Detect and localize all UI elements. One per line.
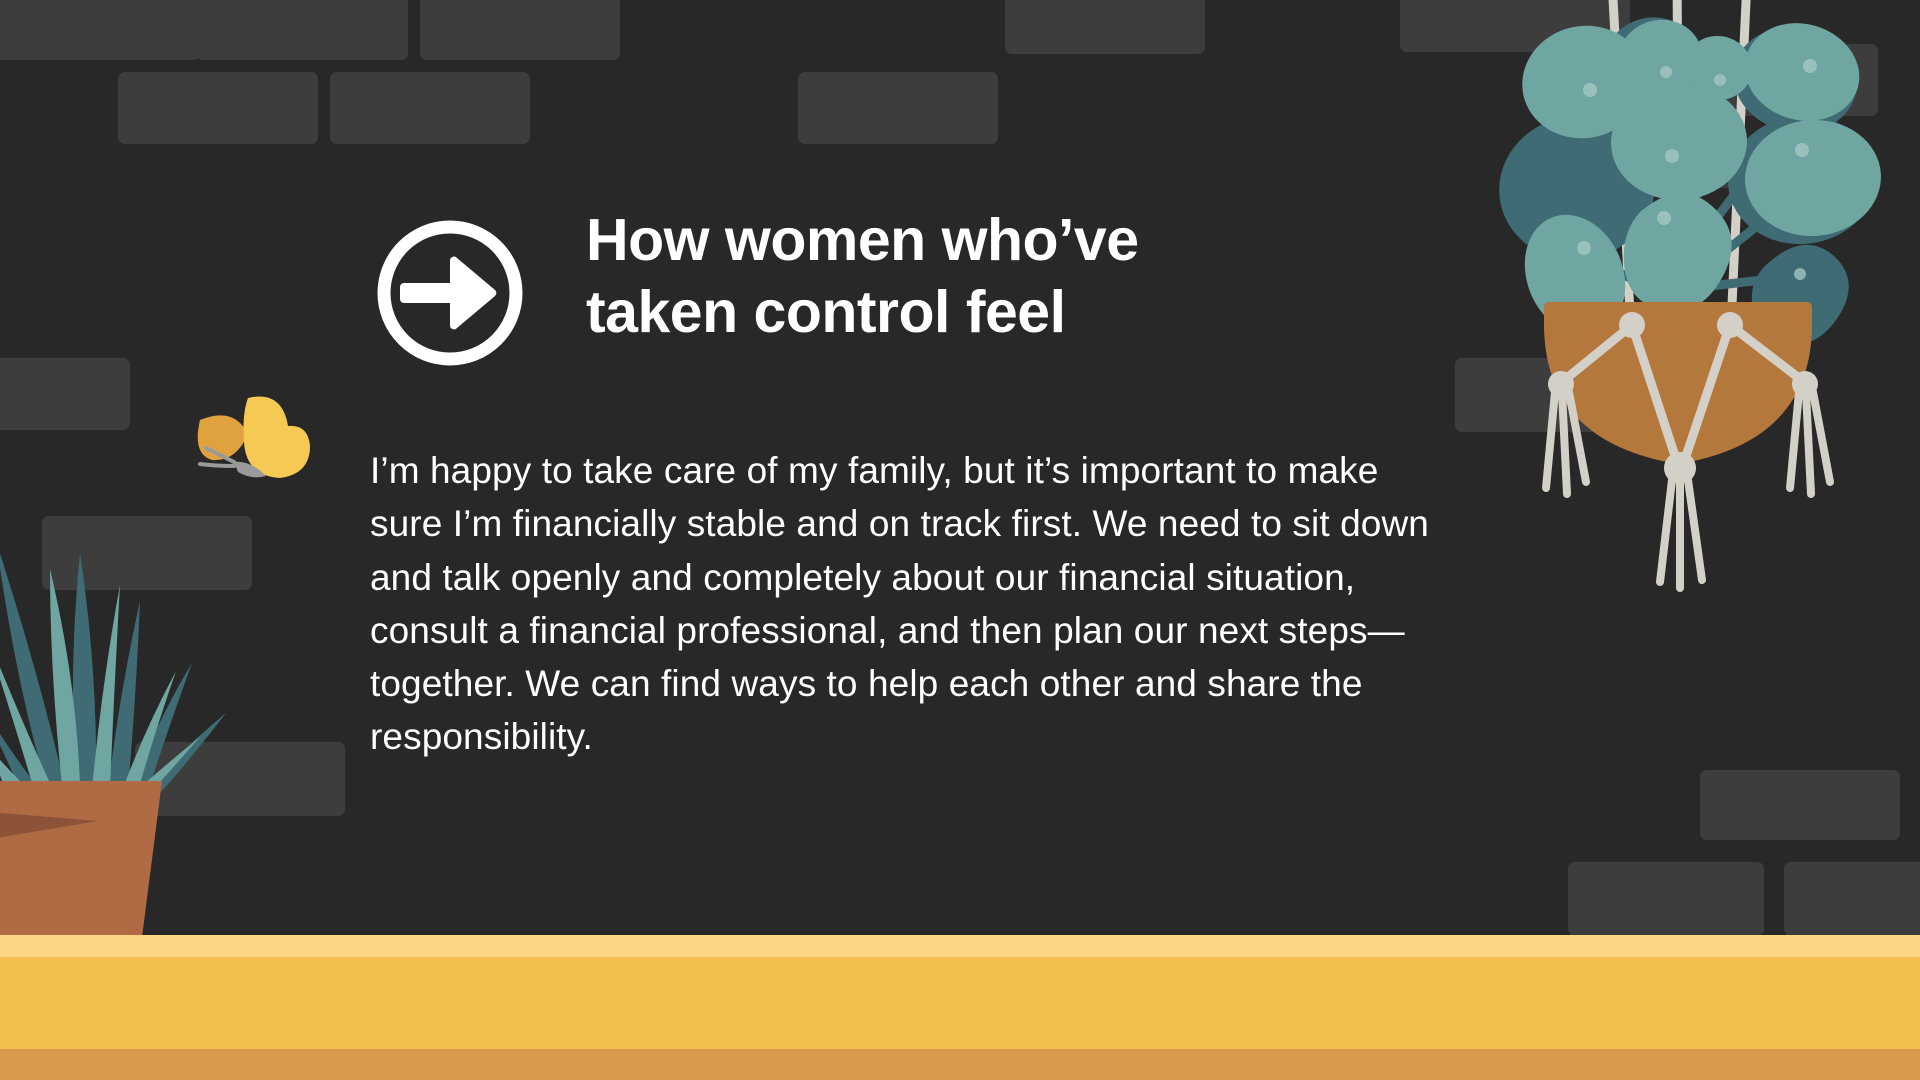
plant-pot (1544, 302, 1812, 464)
macrame-knot (1717, 312, 1743, 338)
brick (1568, 862, 1764, 936)
potted-agave-plant (0, 523, 240, 953)
body-paragraph: I’m happy to take care of my family, but… (370, 444, 1460, 764)
arrow-right-circle-icon (370, 213, 530, 378)
left-plant-svg (0, 523, 240, 953)
brick (1005, 0, 1205, 54)
butterfly-wing-front (244, 397, 311, 478)
brick (0, 0, 200, 60)
hanging-pilea-plant (1472, 0, 1902, 720)
shelf-bottom-edge (0, 1049, 1920, 1080)
butterfly (182, 382, 322, 482)
hanging-plant-svg (1472, 0, 1902, 720)
plant-pot (0, 781, 162, 953)
content-column: How women who’ve taken control feel I’m … (370, 205, 1480, 764)
shelf-face (0, 957, 1920, 1049)
slide-root: How women who’ve taken control feel I’m … (0, 0, 1920, 1080)
brick (196, 0, 408, 60)
brick (1700, 770, 1900, 840)
brick (0, 358, 130, 430)
wooden-shelf (0, 935, 1920, 1080)
page-title: How women who’ve taken control feel (586, 205, 1139, 349)
macrame-knot (1619, 312, 1645, 338)
brick (1784, 862, 1920, 936)
brick (798, 72, 998, 144)
brick (118, 72, 318, 144)
butterfly-svg (182, 382, 322, 482)
shelf-top-edge (0, 935, 1920, 957)
brick (330, 72, 530, 144)
arrow-right-circle-svg (370, 213, 530, 373)
headline-row: How women who’ve taken control feel (370, 205, 1480, 378)
butterfly-wing-back (198, 415, 248, 460)
brick (420, 0, 620, 60)
